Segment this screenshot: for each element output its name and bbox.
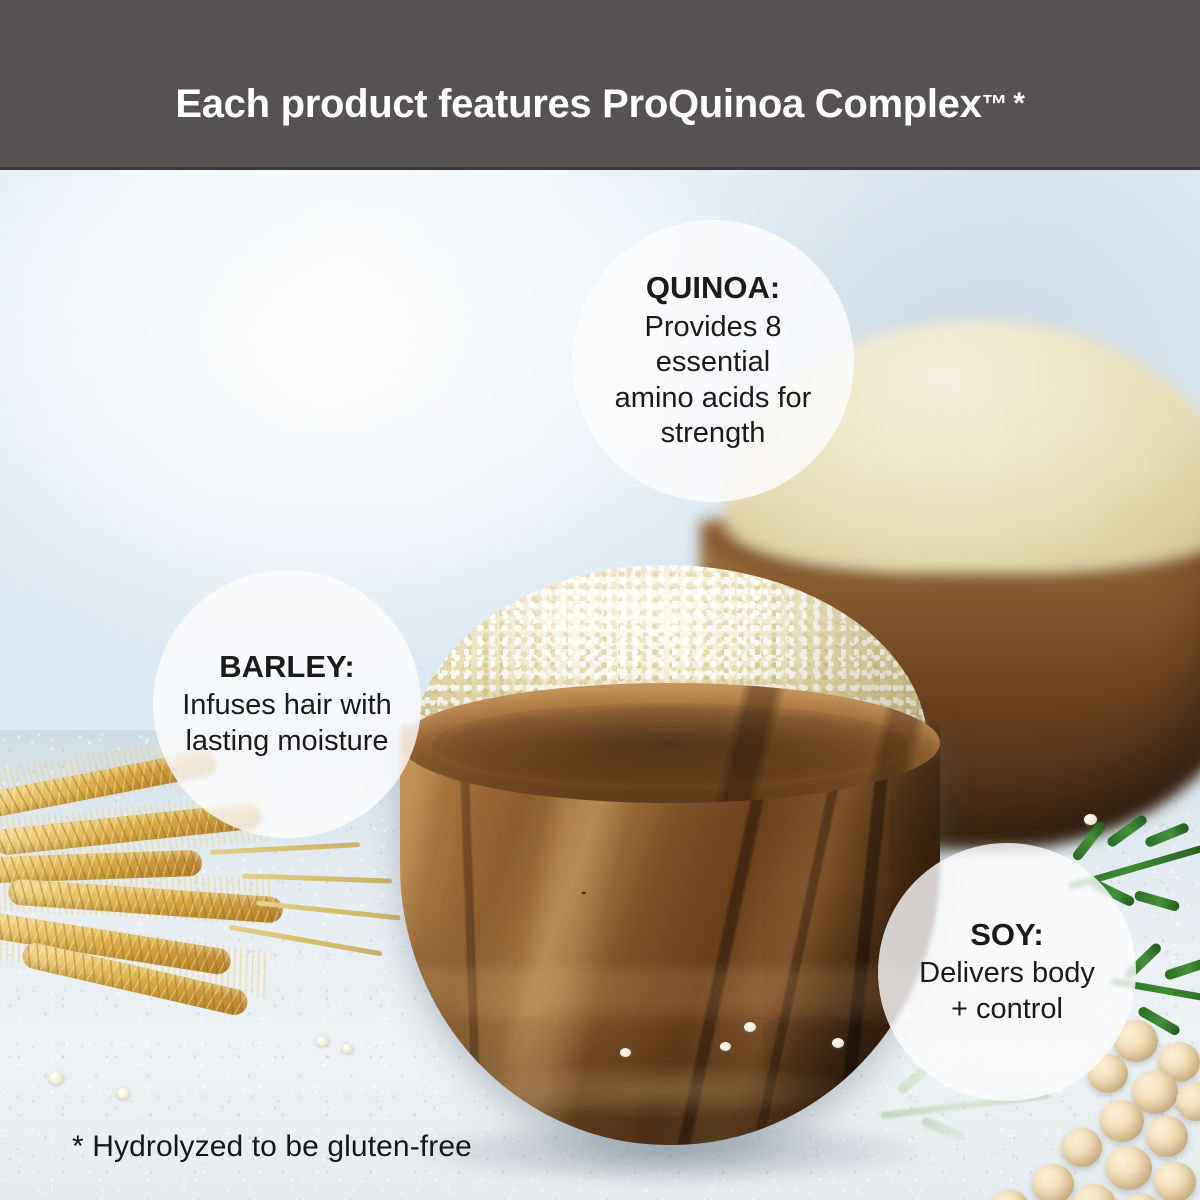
callout-soy-line-2: + control <box>951 992 1063 1027</box>
quinoa-grain <box>744 1022 756 1032</box>
callout-quinoa-title: QUINOA: <box>646 270 780 307</box>
soybean <box>1146 1116 1188 1157</box>
quinoa-grain <box>342 1044 353 1053</box>
rosemary-leaf <box>1071 820 1107 862</box>
quinoa-grain <box>49 1072 64 1084</box>
front-bowl-foot-highlight <box>460 1061 860 1119</box>
quinoa-grain <box>1084 814 1097 825</box>
rosemary-leaf <box>920 1116 966 1143</box>
callout-soy-line-1: Delivers body <box>919 956 1095 991</box>
callout-barley: BARLEY: Infuses hair with lasting moistu… <box>153 570 421 838</box>
callout-quinoa-line-2: amino acids for <box>615 381 812 416</box>
soybean <box>1062 1128 1102 1167</box>
front-quinoa-bowl <box>390 565 950 1165</box>
quinoa-grain <box>316 1036 329 1046</box>
callout-barley-line-2: lasting moisture <box>185 724 388 759</box>
header-bar: Each product features ProQuinoa Complex™… <box>0 0 1200 170</box>
quinoa-grain <box>832 1038 844 1048</box>
soybean <box>1032 1164 1074 1200</box>
rosemary-leaf <box>1134 890 1181 912</box>
quinoa-grain <box>620 1048 631 1057</box>
quinoa-grain <box>117 1088 130 1099</box>
callout-quinoa-line-3: strength <box>661 416 766 451</box>
callout-barley-title: BARLEY: <box>219 649 354 686</box>
rosemary-leaf <box>1144 822 1190 849</box>
promo-image-root: QUINOA: Provides 8 essential amino acids… <box>0 0 1200 1200</box>
rosemary-leaf <box>1164 957 1200 981</box>
soybean <box>1100 1100 1144 1142</box>
quinoa-grain <box>720 1042 731 1051</box>
soybean <box>1154 1162 1196 1200</box>
callout-quinoa-line-1: Provides 8 essential <box>588 310 838 381</box>
page-title: Each product features ProQuinoa Complex™… <box>0 0 1200 170</box>
callout-barley-line-1: Infuses hair with <box>182 688 392 723</box>
callout-quinoa: QUINOA: Provides 8 essential amino acids… <box>572 220 854 502</box>
soybean <box>1106 1146 1152 1190</box>
callout-soy: SOY: Delivers body + control <box>878 843 1136 1101</box>
callout-soy-title: SOY: <box>970 917 1044 954</box>
page-title-main: Each product features ProQuinoa Complex <box>175 82 981 127</box>
rosemary-leaf <box>1105 813 1148 848</box>
front-bowl-inner-shadow <box>432 703 908 785</box>
footnote-gluten-free: * Hydrolyzed to be gluten-free <box>72 1130 472 1164</box>
